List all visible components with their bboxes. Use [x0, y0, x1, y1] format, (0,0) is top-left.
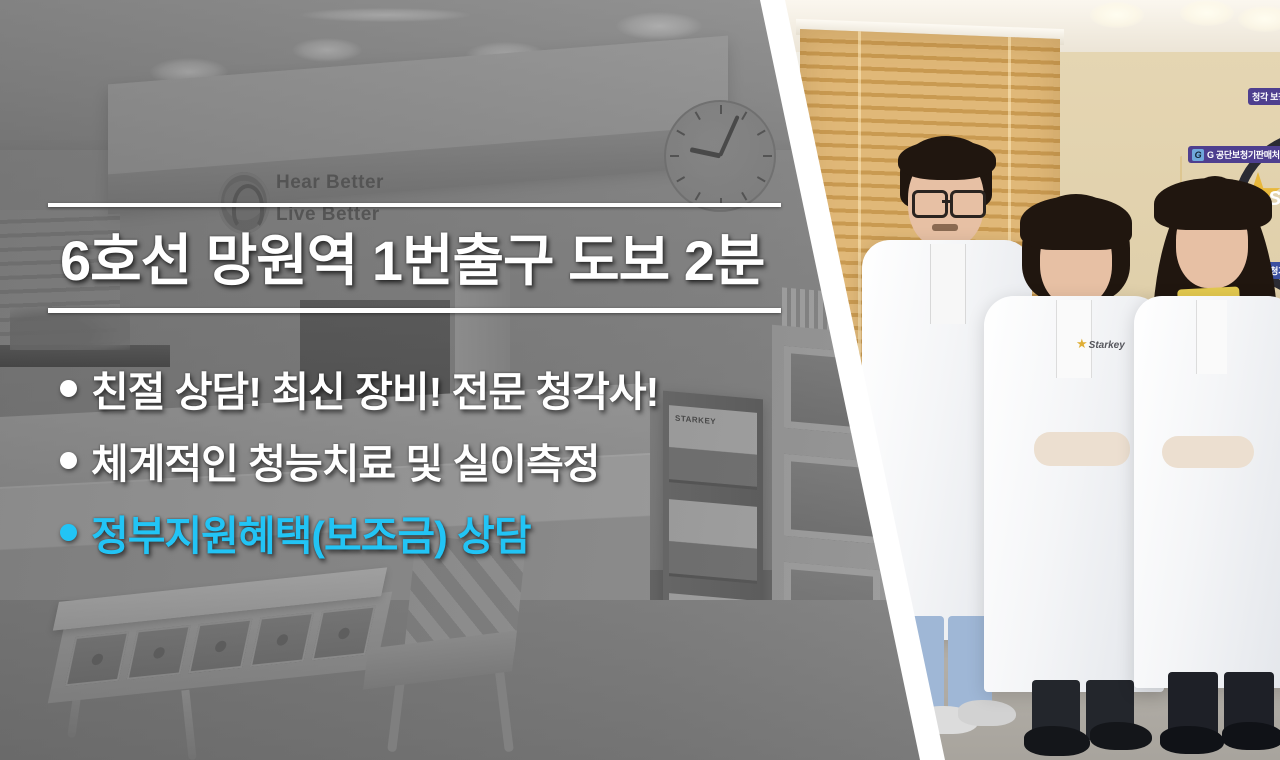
hair-top — [898, 140, 996, 180]
list-item: 정부지원혜택(보조금) 상담 — [60, 496, 658, 568]
coat-collar — [1196, 300, 1227, 374]
bullet-dot-icon — [60, 452, 77, 469]
g-badge-icon: G — [1192, 149, 1204, 161]
wall-sign-chip: 청각 보청기 — [1248, 88, 1280, 105]
list-item: 체계적인 청능치료 및 실이측정 — [60, 424, 658, 496]
shoe — [1024, 726, 1090, 756]
sign-chip-label: 청각 보청기 — [1252, 90, 1280, 103]
ceiling-light — [1180, 0, 1234, 26]
list-item-label: 친절 상담! 최신 장비! 전문 청각사! — [91, 358, 658, 418]
bullet-dot-icon — [60, 524, 77, 541]
feature-list: 친절 상담! 최신 장비! 전문 청각사! 체계적인 청능치료 및 실이측정 정… — [60, 352, 658, 568]
coat-brand-logo: ★Starkey — [1076, 336, 1125, 352]
rule-below-headline — [48, 308, 781, 313]
clasped-hands — [1162, 436, 1254, 468]
shoe — [1090, 722, 1152, 750]
mustache — [932, 224, 958, 231]
shoe — [958, 700, 1016, 726]
rule-above-headline — [48, 203, 781, 207]
coat-collar — [930, 244, 966, 324]
hair-top — [1154, 178, 1272, 230]
star-icon: ★ — [1076, 336, 1088, 351]
promo-banner: Hear Better Live Better STARKEY — [0, 0, 1280, 760]
bullet-dot-icon — [60, 380, 77, 397]
list-item: 친절 상담! 최신 장비! 전문 청각사! — [60, 352, 658, 424]
list-item-label: 체계적인 청능치료 및 실이측정 — [91, 430, 600, 490]
page-title: 6호선 망원역 1번출구 도보 2분 — [60, 216, 764, 297]
wall-sign-chip: G G 공단보청기판매처 — [1188, 146, 1280, 163]
coat-brand-label: Starkey — [1089, 340, 1125, 351]
sign-chip-label: G 공단보청기판매처 — [1207, 148, 1280, 161]
shoe — [1160, 726, 1224, 754]
ceiling-light — [1090, 2, 1144, 28]
list-item-label: 정부지원혜택(보조금) 상담 — [91, 502, 531, 562]
hair-top — [1020, 196, 1132, 250]
clasped-hands — [1034, 432, 1130, 466]
shoe — [1222, 722, 1280, 750]
